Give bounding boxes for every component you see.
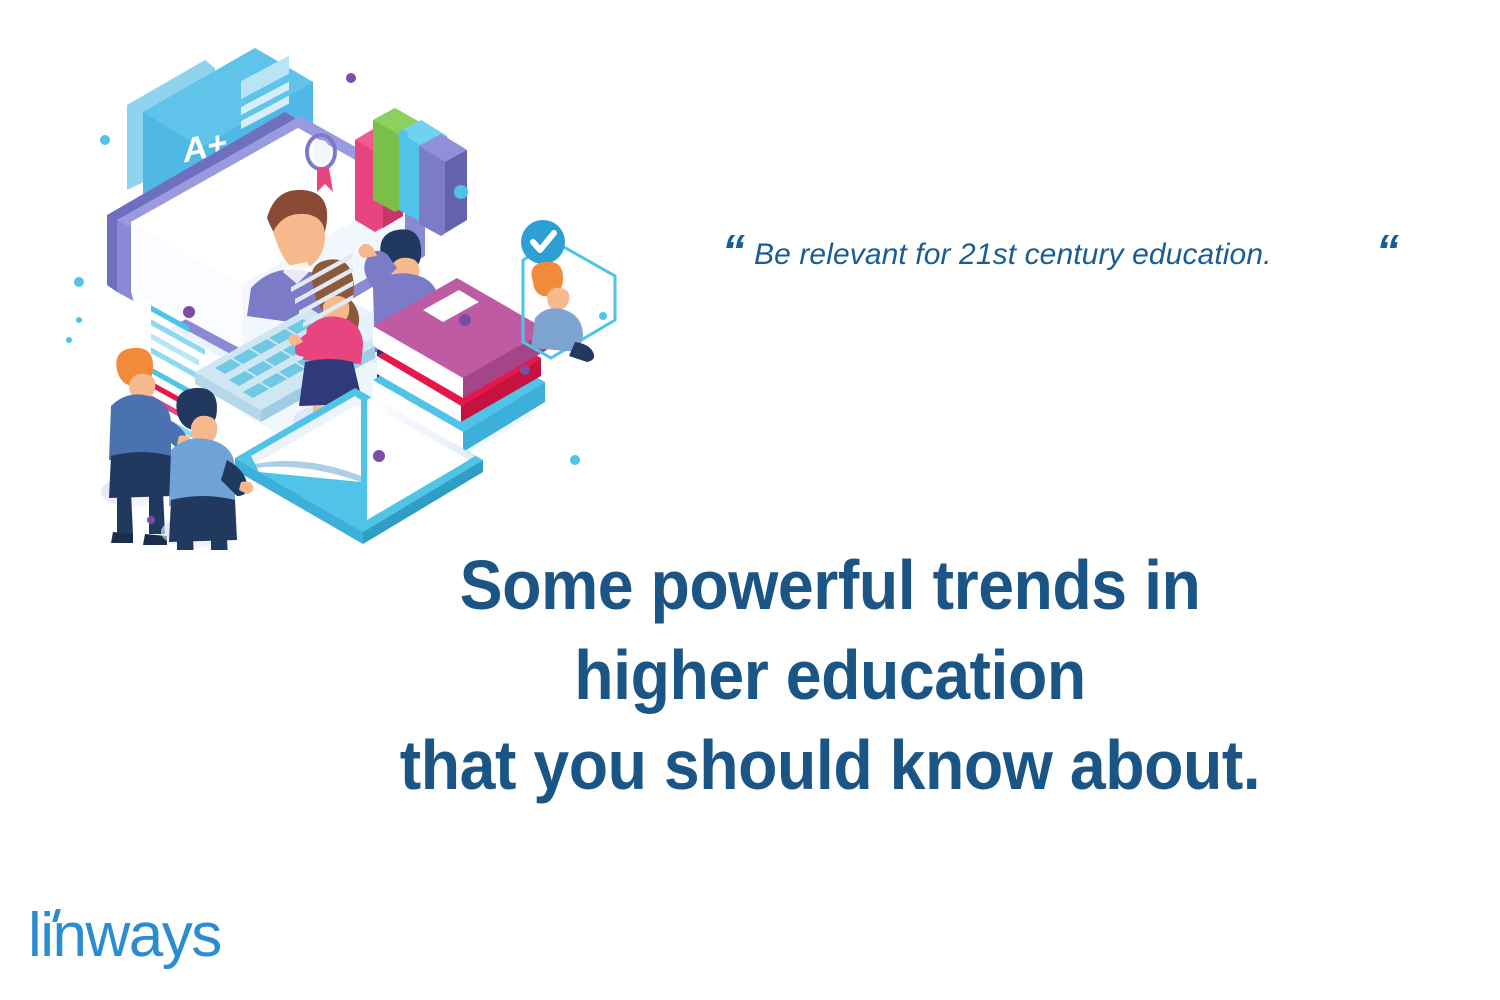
page-title: Some powerful trends in higher education… [230,540,1430,810]
verified-check-icon [521,220,565,264]
headline-line-1: Some powerful trends in [278,540,1382,630]
headline-line-3: that you should know about. [278,720,1382,810]
isometric-education-illustration: A+ [55,20,625,550]
quote-open-mark: “ [722,228,742,274]
linways-logo[interactable]: linways [28,905,221,967]
quote-block: “ Be relevant for 21st century education… [722,228,1422,290]
banner-root: A+ [0,0,1500,1000]
headline-line-2: higher education [278,630,1382,720]
quote-text: Be relevant for 21st century education. [754,238,1272,272]
quote-close-mark: “ [1376,228,1396,274]
